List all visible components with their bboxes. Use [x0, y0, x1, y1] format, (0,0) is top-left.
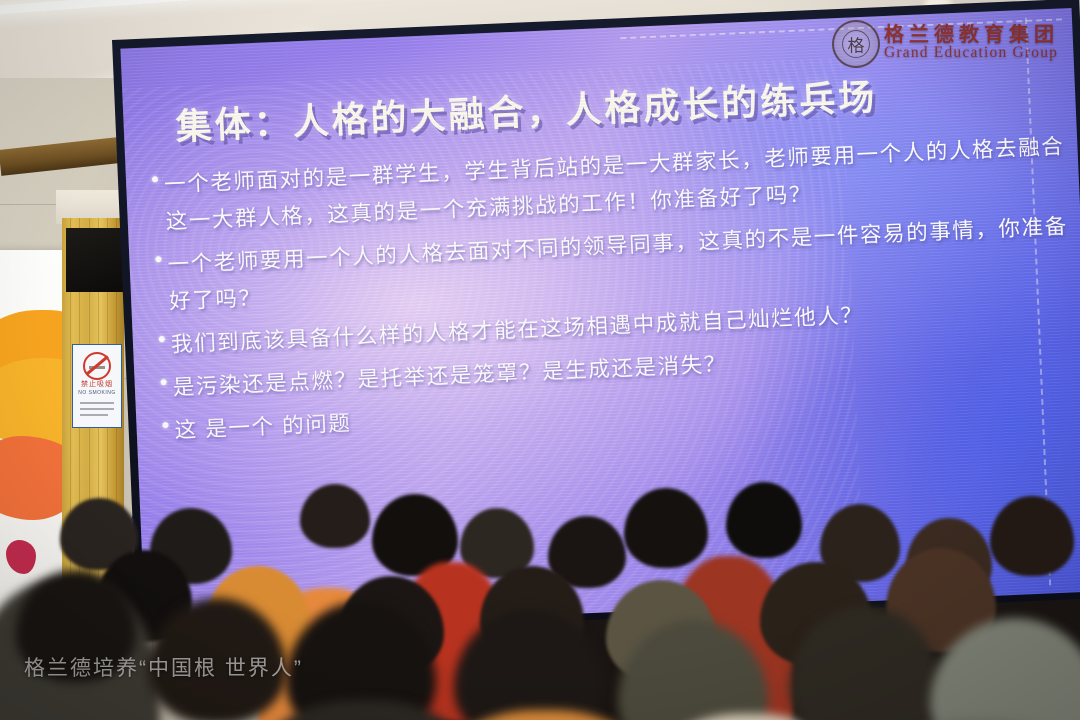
audience-head — [790, 606, 940, 720]
no-smoking-sign: 禁止吸烟 NO SMOKING — [72, 344, 122, 428]
brand-watermark: 格 格兰德教育集团 Grand Education Group — [826, 16, 1072, 72]
bullet-dot-icon — [162, 422, 168, 428]
audience-head — [618, 620, 768, 720]
audience-head — [930, 618, 1080, 720]
pillar-recess — [66, 228, 124, 292]
wooden-pillar — [62, 218, 124, 720]
audience-foreground — [430, 710, 660, 720]
brand-name-cn: 格兰德教育集团 — [884, 18, 1059, 47]
slogan-watermark: 格兰德培养“中国根 世界人” — [24, 652, 303, 682]
bullet-dot-icon — [155, 256, 161, 262]
screenshot-root: ASIA IA 禁止吸烟 NO SMOKING 集体：人格的大融合，人格成长的练… — [0, 0, 1080, 720]
map-region-south-asia — [6, 540, 36, 574]
bullet-dot-icon — [161, 379, 167, 385]
brand-seal-icon: 格 — [832, 20, 880, 68]
audience-head — [454, 610, 604, 720]
led-screen: 集体：人格的大融合，人格成长的练兵场 一个老师面对的是一群学生，学生背后站的是一… — [112, 0, 1080, 639]
brand-name-en: Grand Education Group — [884, 44, 1058, 62]
no-smoking-icon — [83, 352, 111, 380]
audience-foreground — [640, 714, 860, 720]
bullet-dot-icon — [152, 176, 158, 182]
map-label-australia: IA — [0, 694, 15, 714]
bullet-dot-icon — [159, 336, 165, 342]
screen-surface: 集体：人格的大融合，人格成长的练兵场 一个老师面对的是一群学生，学生背后站的是一… — [120, 8, 1080, 632]
slide-bullet-list: 一个老师面对的是一群学生，学生背后站的是一大群家长，老师要用一个人的人格去融合这… — [151, 128, 1078, 456]
no-smoking-subtitle: NO SMOKING — [73, 390, 121, 396]
seal-glyph: 格 — [848, 32, 865, 57]
no-smoking-title: 禁止吸烟 — [73, 379, 121, 389]
